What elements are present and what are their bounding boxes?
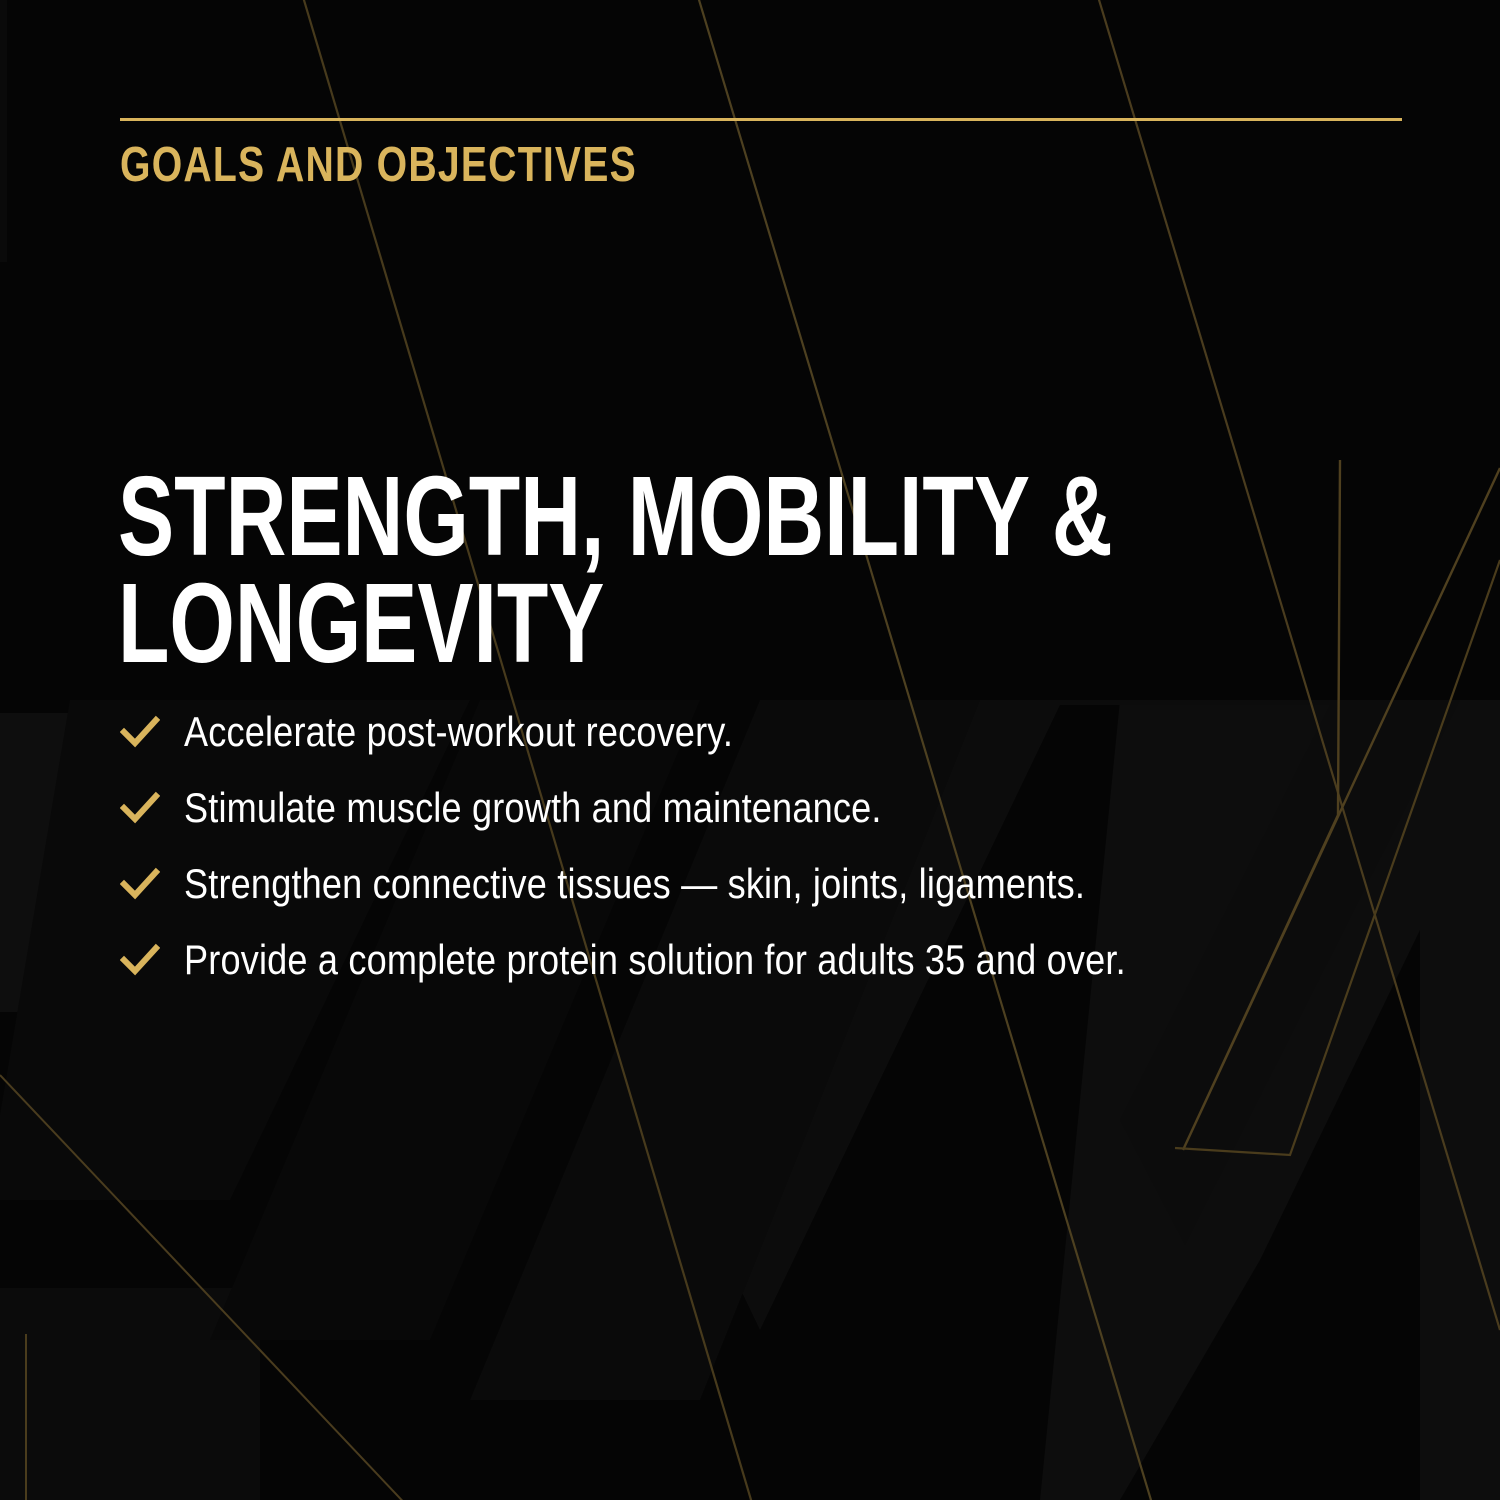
check-icon	[120, 788, 160, 828]
check-icon	[120, 940, 160, 980]
slide-canvas: GOALS AND OBJECTIVES STRENGTH, MOBILITY …	[0, 0, 1500, 1500]
list-item-label: Strengthen connective tissues — skin, jo…	[184, 862, 1085, 906]
page-title: STRENGTH, MOBILITY & LONGEVITY	[118, 463, 1161, 677]
list-item: Strengthen connective tissues — skin, jo…	[120, 846, 1420, 922]
list-item: Provide a complete protein solution for …	[120, 922, 1420, 998]
check-icon	[120, 712, 160, 752]
objectives-list: Accelerate post-workout recovery. Stimul…	[120, 694, 1420, 998]
list-item-label: Accelerate post-workout recovery.	[184, 710, 733, 754]
list-item-label: Provide a complete protein solution for …	[184, 938, 1126, 982]
check-icon	[120, 864, 160, 904]
list-item-label: Stimulate muscle growth and maintenance.	[184, 786, 882, 830]
eyebrow-label: GOALS AND OBJECTIVES	[120, 140, 637, 191]
list-item: Stimulate muscle growth and maintenance.	[120, 770, 1420, 846]
header-rule	[120, 118, 1402, 121]
list-item: Accelerate post-workout recovery.	[120, 694, 1420, 770]
